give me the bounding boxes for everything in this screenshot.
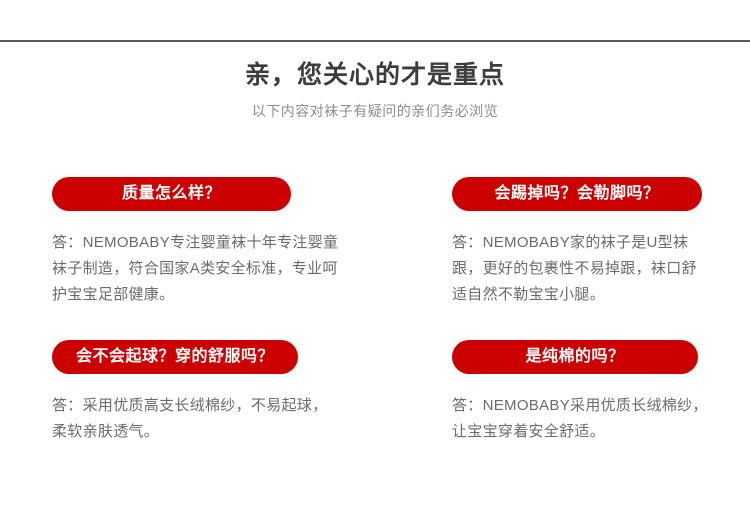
- faq-question-banner-pilling[interactable]: 会不会起球？穿的舒服吗？: [52, 340, 298, 374]
- top-divider-rule: [0, 40, 750, 42]
- faq-item-cotton: 是纯棉的吗？ 答：NEMOBABY采用优质长绒棉纱，让宝宝穿着安全舒适。: [452, 340, 702, 445]
- faq-item-quality: 质量怎么样？ 答：NEMOBABY专注婴童袜十年专注婴童袜子制造，符合国家A类安…: [52, 177, 452, 308]
- faq-row-2: 会不会起球？穿的舒服吗？ 答：采用优质高支长绒棉纱，不易起球，柔软亲肤透气。 是…: [52, 340, 702, 445]
- faq-item-pilling: 会不会起球？穿的舒服吗？ 答：采用优质高支长绒棉纱，不易起球，柔软亲肤透气。: [52, 340, 452, 445]
- page-subtitle: 以下内容对袜子有疑问的亲们务必浏览: [0, 100, 750, 122]
- faq-question-banner-cotton[interactable]: 是纯棉的吗？: [452, 340, 698, 374]
- faq-answer-pilling: 答：采用优质高支长绒棉纱，不易起球，柔软亲肤透气。: [52, 393, 342, 445]
- faq-grid: 质量怎么样？ 答：NEMOBABY专注婴童袜十年专注婴童袜子制造，符合国家A类安…: [52, 177, 702, 445]
- faq-question-banner-fit[interactable]: 会踢掉吗？会勒脚吗？: [452, 177, 702, 211]
- faq-item-fit: 会踢掉吗？会勒脚吗？ 答：NEMOBABY家的袜子是U型袜跟，更好的包裹性不易掉…: [452, 177, 702, 308]
- faq-answer-quality: 答：NEMOBABY专注婴童袜十年专注婴童袜子制造，符合国家A类安全标准，专业呵…: [52, 230, 342, 308]
- faq-row-1: 质量怎么样？ 答：NEMOBABY专注婴童袜十年专注婴童袜子制造，符合国家A类安…: [52, 177, 702, 308]
- faq-answer-fit: 答：NEMOBABY家的袜子是U型袜跟，更好的包裹性不易掉跟，袜口舒适自然不勒宝…: [452, 230, 712, 308]
- faq-page: 亲，您关心的才是重点 以下内容对袜子有疑问的亲们务必浏览 质量怎么样？ 答：NE…: [0, 0, 750, 525]
- faq-answer-cotton: 答：NEMOBABY采用优质长绒棉纱，让宝宝穿着安全舒适。: [452, 393, 712, 445]
- page-title: 亲，您关心的才是重点: [0, 58, 750, 92]
- page-header: 亲，您关心的才是重点 以下内容对袜子有疑问的亲们务必浏览: [0, 58, 750, 122]
- faq-question-banner-quality[interactable]: 质量怎么样？: [52, 177, 291, 211]
